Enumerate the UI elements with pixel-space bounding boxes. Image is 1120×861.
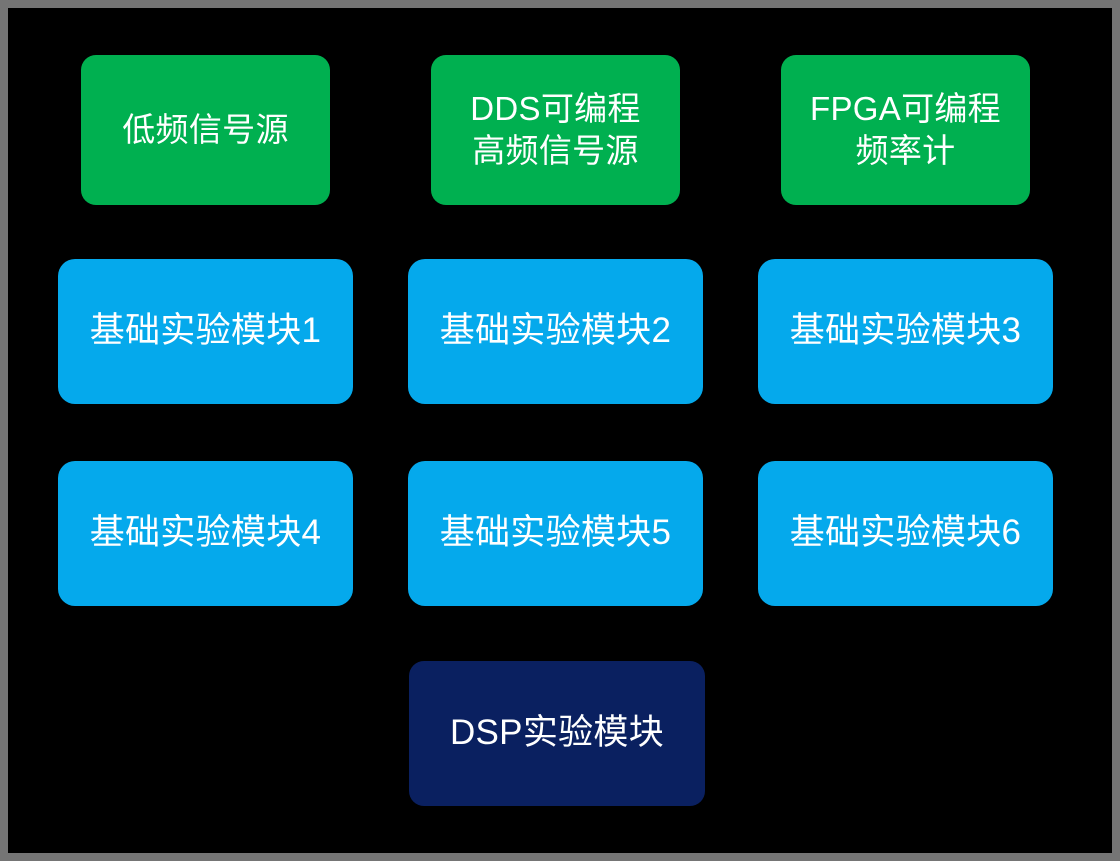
diagram-canvas: 低频信号源 DDS可编程 高频信号源 FPGA可编程 频率计 基础实验模块1 基…: [8, 8, 1112, 853]
node-dds-programmable-high-frequency-signal-source[interactable]: DDS可编程 高频信号源: [431, 55, 680, 205]
node-dsp-experiment-module[interactable]: DSP实验模块: [409, 661, 705, 806]
node-basic-experiment-module-5[interactable]: 基础实验模块5: [408, 461, 703, 606]
node-basic-experiment-module-4[interactable]: 基础实验模块4: [58, 461, 353, 606]
node-basic-experiment-module-2[interactable]: 基础实验模块2: [408, 259, 703, 404]
node-fpga-programmable-frequency-counter[interactable]: FPGA可编程 频率计: [781, 55, 1030, 205]
node-basic-experiment-module-1[interactable]: 基础实验模块1: [58, 259, 353, 404]
node-basic-experiment-module-6[interactable]: 基础实验模块6: [758, 461, 1053, 606]
node-low-frequency-signal-source[interactable]: 低频信号源: [81, 55, 330, 205]
diagram-frame: 低频信号源 DDS可编程 高频信号源 FPGA可编程 频率计 基础实验模块1 基…: [0, 0, 1120, 861]
node-basic-experiment-module-3[interactable]: 基础实验模块3: [758, 259, 1053, 404]
